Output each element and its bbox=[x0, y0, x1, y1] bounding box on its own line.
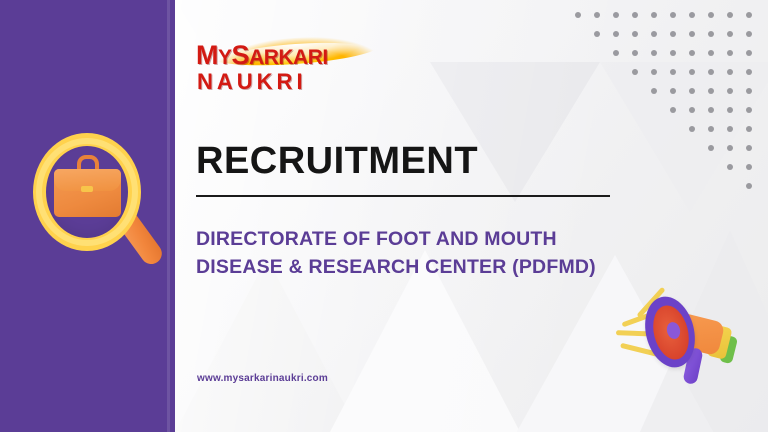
site-logo[interactable]: MYSARKARI NAUKRI bbox=[196, 36, 392, 98]
organization-name: DIRECTORATE OF FOOT AND MOUTH DISEASE & … bbox=[196, 226, 646, 281]
grid-dot bbox=[689, 12, 695, 18]
grid-dot bbox=[708, 88, 714, 94]
grid-dot bbox=[727, 12, 733, 18]
grid-dot bbox=[708, 126, 714, 132]
grid-dot bbox=[708, 31, 714, 37]
grid-dot bbox=[727, 126, 733, 132]
grid-dot bbox=[746, 183, 752, 189]
briefcase-clasp bbox=[81, 186, 93, 192]
grid-dot bbox=[651, 50, 657, 56]
logo-letter-m: M bbox=[196, 40, 218, 70]
grid-dot bbox=[727, 31, 733, 37]
logo-text-line1: MYSARKARI bbox=[196, 40, 328, 71]
grid-dot bbox=[727, 107, 733, 113]
grid-dot bbox=[708, 12, 714, 18]
grid-dot bbox=[727, 145, 733, 151]
logo-letter-y: Y bbox=[218, 46, 232, 69]
logo-text-line2: NAUKRI bbox=[197, 69, 307, 95]
grid-dot bbox=[727, 88, 733, 94]
grid-dot bbox=[632, 12, 638, 18]
grid-dot bbox=[632, 50, 638, 56]
grid-dot bbox=[708, 145, 714, 151]
grid-dot bbox=[746, 88, 752, 94]
grid-dot bbox=[651, 88, 657, 94]
grid-dot bbox=[746, 164, 752, 170]
grid-dot bbox=[708, 107, 714, 113]
website-url[interactable]: www.mysarkarinaukri.com bbox=[197, 373, 328, 384]
logo-text-arkari: ARKARI bbox=[249, 46, 328, 69]
grid-dot bbox=[689, 69, 695, 75]
grid-dot bbox=[746, 145, 752, 151]
grid-dot bbox=[746, 31, 752, 37]
grid-dot bbox=[594, 31, 600, 37]
grid-dot bbox=[746, 107, 752, 113]
grid-dot bbox=[651, 69, 657, 75]
grid-dot bbox=[651, 31, 657, 37]
grid-dot bbox=[613, 50, 619, 56]
grid-dot bbox=[708, 69, 714, 75]
grid-dot bbox=[746, 12, 752, 18]
grid-dot bbox=[746, 126, 752, 132]
grid-dot bbox=[727, 69, 733, 75]
grid-dot bbox=[575, 12, 581, 18]
dot-grid-decoration bbox=[575, 12, 768, 212]
grid-dot bbox=[670, 31, 676, 37]
grid-dot bbox=[689, 31, 695, 37]
grid-dot bbox=[689, 50, 695, 56]
grid-dot bbox=[632, 31, 638, 37]
grid-dot bbox=[689, 126, 695, 132]
grid-dot bbox=[689, 107, 695, 113]
megaphone-icon bbox=[604, 282, 754, 392]
logo-letter-s: S bbox=[232, 40, 250, 70]
grid-dot bbox=[708, 50, 714, 56]
magnifier-briefcase-icon bbox=[33, 133, 158, 268]
grid-dot bbox=[613, 12, 619, 18]
grid-dot bbox=[727, 50, 733, 56]
title-divider bbox=[196, 195, 610, 197]
grid-dot bbox=[689, 88, 695, 94]
side-panel-stripe bbox=[167, 0, 170, 432]
grid-dot bbox=[670, 12, 676, 18]
grid-dot bbox=[746, 50, 752, 56]
page-title: RECRUITMENT bbox=[196, 142, 478, 180]
grid-dot bbox=[594, 12, 600, 18]
grid-dot bbox=[746, 69, 752, 75]
grid-dot bbox=[632, 69, 638, 75]
grid-dot bbox=[670, 69, 676, 75]
grid-dot bbox=[727, 164, 733, 170]
grid-dot bbox=[613, 31, 619, 37]
grid-dot bbox=[651, 12, 657, 18]
grid-dot bbox=[670, 88, 676, 94]
recruitment-banner: MYSARKARI NAUKRI RECRUITMENT DIRECTORATE… bbox=[0, 0, 768, 432]
grid-dot bbox=[670, 50, 676, 56]
grid-dot bbox=[670, 107, 676, 113]
